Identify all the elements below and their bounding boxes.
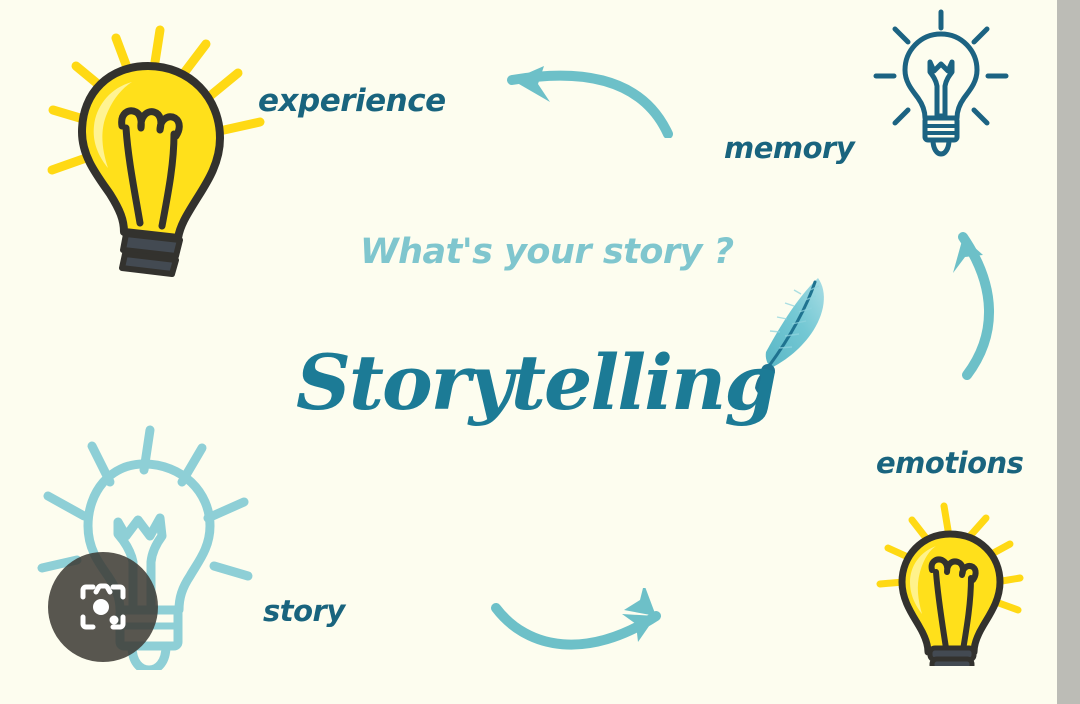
label-memory: memory xyxy=(724,131,854,165)
poster-subtitle: What's your story ? xyxy=(360,232,734,272)
label-emotions: emotions xyxy=(876,446,1023,480)
google-lens-icon xyxy=(75,579,131,635)
curved-arrow-up-icon xyxy=(935,215,1020,380)
lightbulb-icon-top-right xyxy=(866,8,1016,160)
lightbulb-icon-top-left xyxy=(28,18,268,278)
screenshot-stage: experience memory emotions story What's … xyxy=(0,0,1080,704)
lightbulb-rays xyxy=(42,430,248,576)
right-gutter xyxy=(1057,0,1080,704)
curved-arrow-left-icon xyxy=(486,58,676,138)
label-story: story xyxy=(263,594,345,628)
label-experience: experience xyxy=(258,83,446,119)
poster-main-title: Storytelling xyxy=(296,338,775,427)
lightbulb-glass xyxy=(905,34,977,118)
google-lens-button[interactable] xyxy=(48,552,158,662)
image-canvas: experience memory emotions story What's … xyxy=(0,0,1057,704)
lightbulb-icon-bottom-right xyxy=(872,498,1044,666)
curved-arrow-right-icon xyxy=(488,588,678,663)
